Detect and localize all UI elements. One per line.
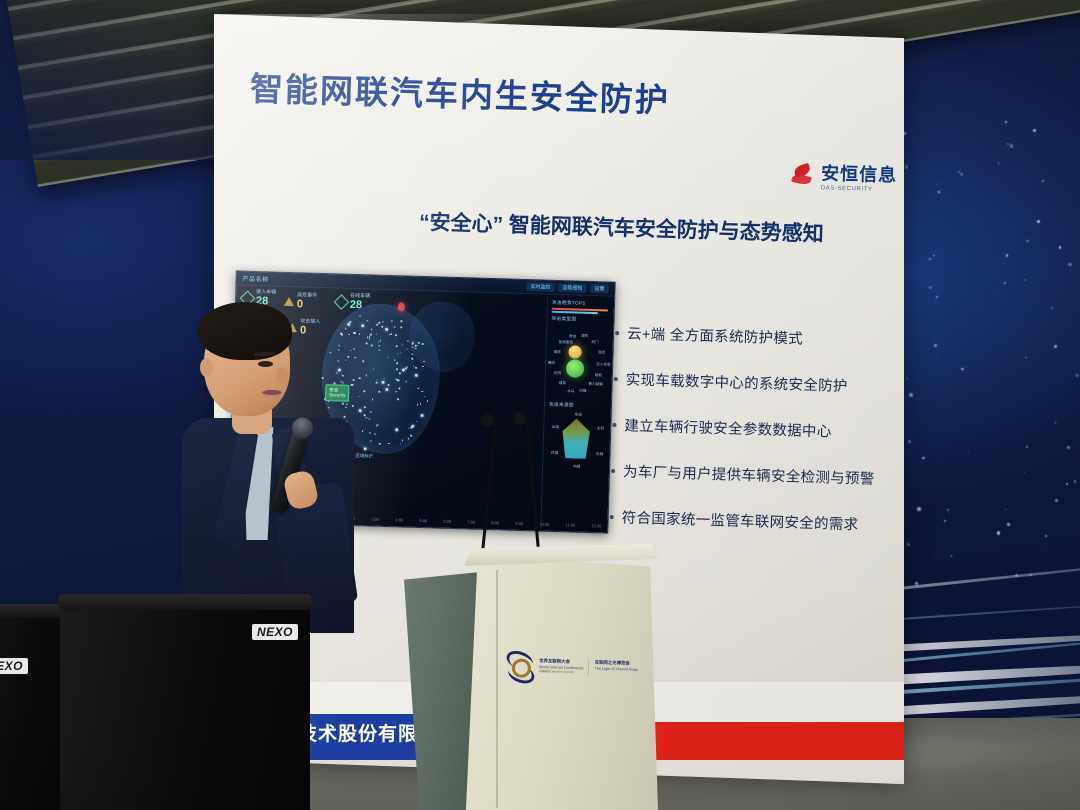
podium-edge (496, 570, 498, 808)
cloud-word: 后门 (591, 340, 598, 345)
cloud-word: 拒绝服务 (559, 340, 574, 345)
panel-title: 攻击来源图 (549, 402, 609, 410)
nexo-logo-right: NEXO (252, 624, 298, 640)
page-title: 智能网联汽车内生安全防护 (249, 62, 670, 122)
microphone-head-icon (513, 412, 526, 425)
dashboard-title: 产品名称 (242, 274, 268, 284)
radar-label: 云端 (552, 425, 559, 430)
axis-tick: 5:00 (419, 518, 427, 523)
presenter-hair (198, 302, 292, 360)
cloud-bubble (568, 345, 581, 358)
podium: 世界互联网大会 World Internet Conference 乌镇峰会 W… (404, 548, 664, 810)
loudspeaker-right-top (58, 594, 312, 610)
bullet-text: 建立车辆行驶安全参数数据中心 (624, 414, 832, 441)
bullet-dot-icon (612, 423, 616, 427)
cloud-word: 注入攻击 (596, 362, 611, 367)
map-alert-pin (398, 302, 405, 311)
ceiling-shadow (0, 0, 250, 160)
cloud-word: 扫描 (579, 388, 586, 393)
presenter-ear (200, 358, 213, 377)
list-item: 实现车载数字中心的系统安全防护 (613, 368, 884, 397)
trend-bar (552, 311, 598, 314)
logo-divider (588, 660, 589, 676)
wic-sub: 乌镇峰会 Wuzhen Summit (539, 671, 584, 676)
dashboard-tab[interactable]: 设置 (590, 284, 608, 294)
cloud-word: 劫持 (554, 371, 561, 376)
cloud-word: 篡改 (548, 361, 555, 366)
wic-logo: 世界互联网大会 World Internet Conference 乌镇峰会 W… (504, 650, 639, 684)
nexo-logo-left: NEXO (0, 658, 28, 674)
cloud-word: 嗅探 (559, 381, 566, 386)
expo-cn: 互联网之光博览会 (595, 660, 639, 666)
axis-tick: 6:00 (443, 519, 451, 524)
axis-tick: 8:00 (491, 520, 499, 525)
dashboard-tab[interactable]: 态势感知 (558, 283, 586, 293)
dashboard-tab[interactable]: 实时监控 (526, 282, 554, 292)
bullet-text: 符合国家统一监管车联网安全的需求 (621, 506, 858, 534)
wic-logo-left: 世界互联网大会 World Internet Conference 乌镇峰会 W… (539, 658, 584, 675)
brand-name-en: DAS-SECURITY (821, 185, 897, 193)
brand-name-cn: 安恒信息 (821, 164, 897, 184)
radar-label: 内网 (573, 464, 580, 469)
list-item: 符合国家统一监管车联网安全的需求 (609, 506, 880, 535)
list-item: 为车厂与用户提供车辆安全检测与预警 (611, 460, 882, 489)
radar-label: 外网 (596, 452, 603, 457)
radar-label: 主机 (597, 426, 604, 431)
bullet-text: 实现车载数字中心的系统安全防护 (625, 368, 848, 396)
bullet-dot-icon (611, 469, 615, 473)
cloud-word: 越权 (595, 373, 602, 378)
dashboard-tabs: 实时监控态势感知设置 (526, 282, 608, 293)
attack-type-wordcloud: 注入攻击越权暴力破解扫描木马嗅探劫持篡改重放拒绝服务爬虫提权后门溢出 (545, 325, 611, 401)
dashboard-right-panel: 攻击趋势TOP5 攻击类型图 注入攻击越权暴力破解扫描木马嗅探劫持篡改重放拒绝服… (540, 297, 612, 531)
attack-source-radar: 攻击主机外网内网终端云端 (543, 410, 609, 472)
axis-tick: 7:00 (467, 519, 475, 524)
list-item: 云+端 全方面系统防护模式 (615, 322, 886, 351)
photo-scene: 智能网联汽车内生安全防护 安恒信息 DAS-SECURITY “安全心” 智能网… (0, 0, 1080, 810)
list-item: 建立车辆行驶安全参数数据中心 (612, 414, 883, 443)
wic-logo-right: 互联网之光博览会 The Light of Internet Expo (594, 660, 638, 672)
bullet-dot-icon (610, 515, 614, 519)
bullet-text: 为车厂与用户提供车辆安全检测与预警 (623, 460, 875, 488)
cloud-word: 爬虫 (569, 334, 576, 339)
radar-polygon (557, 418, 594, 459)
cloud-word: 木马 (567, 390, 574, 395)
radar-label: 攻击 (575, 413, 582, 418)
bullet-list: 云+端 全方面系统防护模式 实现车载数字中心的系统安全防护 建立车辆行驶安全参数… (609, 322, 886, 560)
bullet-text: 云+端 全方面系统防护模式 (627, 322, 803, 348)
brand-mark-icon (792, 163, 817, 192)
cloud-word: 暴力破解 (588, 381, 603, 386)
cloud-word: 溢出 (598, 350, 605, 355)
bullet-dot-icon (614, 377, 618, 381)
panel-title: 攻击趋势TOP5 (552, 300, 612, 308)
cloud-word: 提权 (581, 333, 588, 338)
radar-label: 终端 (551, 451, 558, 456)
axis-tick: 4:00 (395, 517, 403, 522)
wic-cn: 世界互联网大会 (539, 658, 584, 664)
cloud-bubble (566, 359, 585, 378)
presenter-eye (258, 361, 273, 367)
cloud-word: 重放 (554, 350, 561, 355)
presenter-nose (276, 368, 288, 384)
presenter-mouth (262, 390, 282, 398)
microphone-head-icon (481, 414, 494, 427)
expo-en: The Light of Internet Expo (594, 666, 638, 672)
das-security-logo: 安恒信息 DAS-SECURITY (792, 163, 898, 194)
axis-tick: 9:00 (515, 521, 523, 526)
bullet-dot-icon (615, 331, 619, 335)
wic-emblem-icon (504, 650, 535, 681)
slide-subtitle: “安全心” 智能网联汽车安全防护与态势感知 (419, 206, 825, 248)
presenter (176, 300, 376, 630)
panel-title: 攻击类型图 (551, 316, 611, 324)
